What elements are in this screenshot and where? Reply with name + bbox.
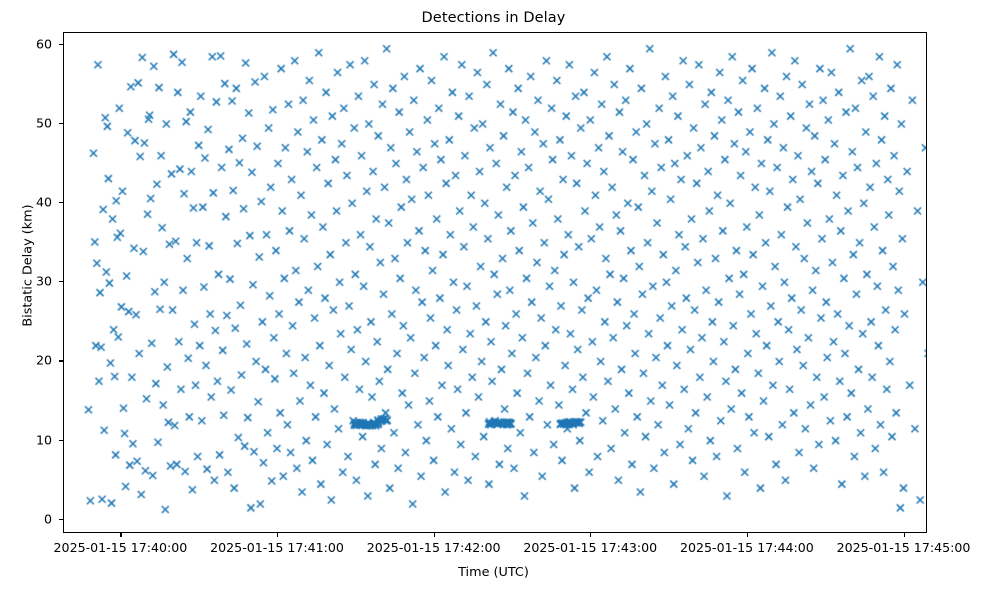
x-tick-label: 2025-01-15 17:45:00 bbox=[837, 540, 971, 555]
x-tick-mark bbox=[904, 533, 905, 537]
scatter-points-layer bbox=[64, 33, 927, 533]
x-tick-mark bbox=[434, 533, 435, 537]
x-tick-label: 2025-01-15 17:43:00 bbox=[523, 540, 657, 555]
chart-title: Detections in Delay bbox=[0, 10, 987, 26]
x-tick-mark bbox=[277, 533, 278, 537]
x-axis-label: Time (UTC) bbox=[0, 565, 987, 580]
x-tick-label-group: 2025-01-15 17:40:002025-01-15 17:41:0020… bbox=[0, 540, 987, 560]
x-tick-mark bbox=[120, 533, 121, 537]
plot-axes-area bbox=[63, 32, 927, 533]
x-tick-label: 2025-01-15 17:44:00 bbox=[680, 540, 814, 555]
x-tick-mark bbox=[590, 533, 591, 537]
x-tick-label: 2025-01-15 17:42:00 bbox=[367, 540, 501, 555]
x-tick-label: 2025-01-15 17:40:00 bbox=[54, 540, 188, 555]
y-tick-mark-group bbox=[0, 32, 63, 533]
x-tick-mark bbox=[747, 533, 748, 537]
x-tick-label: 2025-01-15 17:41:00 bbox=[210, 540, 344, 555]
chart-figure: Detections in Delay Bistatic Delay (km) … bbox=[0, 0, 987, 590]
